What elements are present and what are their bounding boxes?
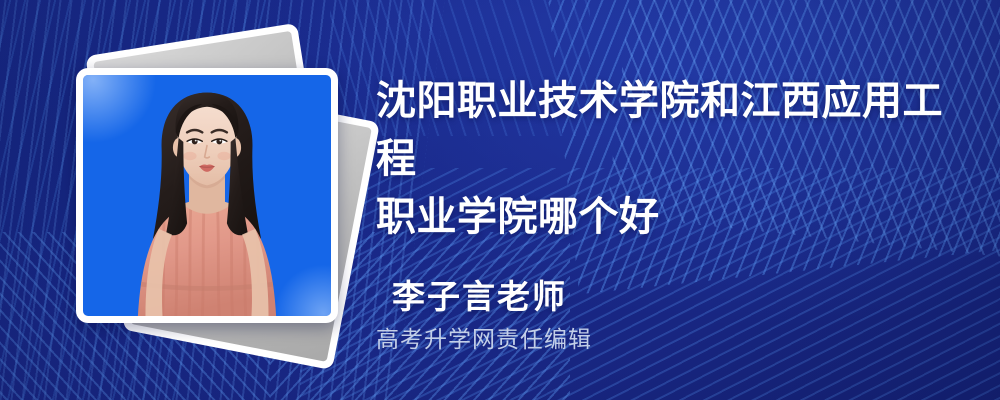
portrait-photo-card [76, 68, 338, 323]
banner-text-block: 沈阳职业技术学院和江西应用工程 职业学院哪个好 李子言老师 高考升学网责任编辑 [376, 0, 976, 400]
page-title-line-1: 沈阳职业技术学院和江西应用工程 [376, 72, 964, 188]
portrait-photo [83, 75, 331, 316]
page-title-line-2: 职业学院哪个好 [376, 188, 964, 246]
promo-banner: 沈阳职业技术学院和江西应用工程 职业学院哪个好 李子言老师 高考升学网责任编辑 [0, 0, 1000, 400]
portrait-photo-frame [83, 75, 331, 316]
author-name: 李子言老师 [392, 270, 567, 318]
author-role: 高考升学网责任编辑 [376, 320, 592, 354]
page-title: 沈阳职业技术学院和江西应用工程 职业学院哪个好 [376, 72, 964, 246]
photo-card-stack [58, 38, 358, 358]
